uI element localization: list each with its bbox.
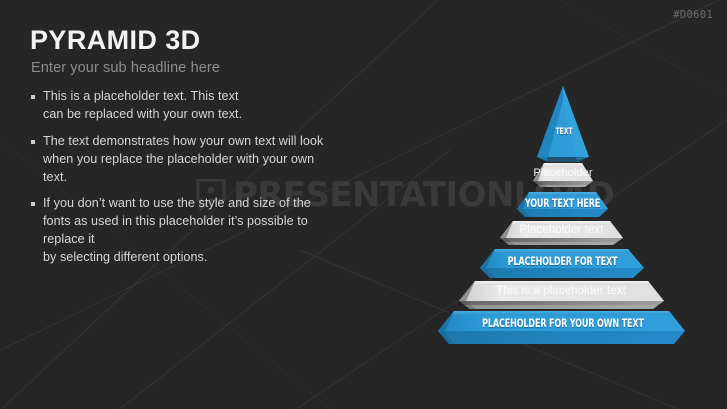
pyramid-3d-diagram: TEXT Placeholder YOUR TEXT HERE Placehol… <box>433 82 695 350</box>
pyramid-svg <box>433 82 695 350</box>
document-id: #D0601 <box>673 9 713 21</box>
list-item: This is a placeholder text. This text ca… <box>31 88 361 124</box>
pyramid-layer-7[interactable] <box>438 311 685 344</box>
bullet-text: This is a placeholder text. This text ca… <box>43 88 242 124</box>
list-item: If you don’t want to use the style and s… <box>31 195 361 267</box>
bullet-list: This is a placeholder text. This text ca… <box>31 88 361 276</box>
slide-canvas: PRESENTATIONLOAD #D0601 PYRAMID 3D Enter… <box>0 0 727 409</box>
page-title: PYRAMID 3D <box>30 26 201 54</box>
page-subtitle: Enter your sub headline here <box>31 60 220 76</box>
square-bullet-icon <box>31 140 35 144</box>
pyramid-layer-5[interactable] <box>480 249 644 278</box>
pyramid-layer-6[interactable] <box>459 281 664 309</box>
pyramid-layer-2[interactable] <box>533 163 593 187</box>
pyramid-layer-1[interactable] <box>537 86 589 162</box>
square-bullet-icon <box>31 95 35 99</box>
bullet-text: The text demonstrates how your own text … <box>43 133 323 187</box>
list-item: The text demonstrates how your own text … <box>31 133 361 187</box>
bullet-text: If you don’t want to use the style and s… <box>43 195 311 267</box>
pyramid-layer-4[interactable] <box>500 221 623 245</box>
pyramid-layer-3[interactable] <box>517 192 608 217</box>
square-bullet-icon <box>31 202 35 206</box>
